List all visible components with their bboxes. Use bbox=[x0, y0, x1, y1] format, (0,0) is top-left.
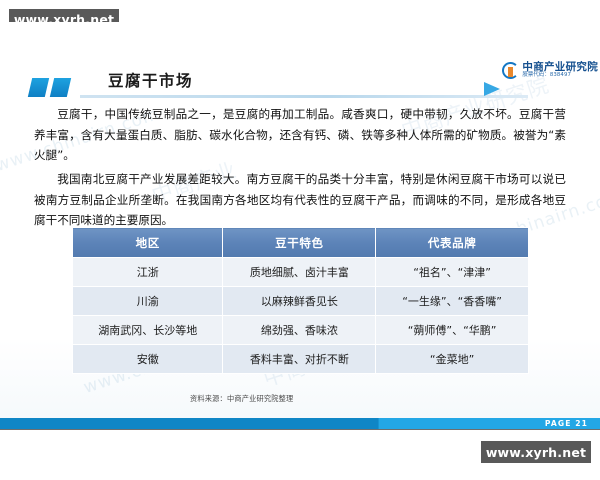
quote-mark-icon bbox=[28, 78, 74, 97]
table-row: 湖南武冈、长沙等地 绵劲强、香味浓 “蒴师傅”、“华鹏” bbox=[73, 316, 529, 345]
arrow-right-icon bbox=[484, 82, 500, 96]
body-paragraph-1: 豆腐干，中国传统豆制品之一，是豆腐的再加工制品。咸香爽口，硬中带韧，久放不坏。豆… bbox=[34, 104, 566, 166]
table-cell: 绵劲强、香味浓 bbox=[223, 316, 376, 345]
body-paragraph-2: 我国南北豆腐干产业发展差距较大。南方豆腐干的品类十分丰富，特别是休闲豆腐干市场可… bbox=[34, 169, 566, 231]
brand-logo: 中商产业研究院 股票代码：838497 bbox=[502, 62, 598, 79]
slide-page: www.chinairn.com 中商产业研究院 www.chinairn.co… bbox=[0, 22, 600, 430]
table-cell: “祖名”、“津津” bbox=[376, 258, 529, 287]
table-header-row: 地区 豆干特色 代表品牌 bbox=[73, 228, 529, 258]
logo-mark-icon bbox=[502, 62, 519, 79]
table-cell: “一生缘”、“香香嘴” bbox=[376, 287, 529, 316]
table-cell: “蒴师傅”、“华鹏” bbox=[376, 316, 529, 345]
footer-grey-bar bbox=[0, 429, 600, 430]
page-title: 豆腐干市场 bbox=[108, 69, 193, 91]
table-cell: 以麻辣鲜香见长 bbox=[223, 287, 376, 316]
table-header-cell: 代表品牌 bbox=[376, 228, 529, 258]
table-row: 江浙 质地细腻、卤汁丰富 “祖名”、“津津” bbox=[73, 258, 529, 287]
table-cell: 湖南武冈、长沙等地 bbox=[73, 316, 223, 345]
heading-rule bbox=[80, 95, 528, 98]
table-cell: “金菜地” bbox=[376, 345, 529, 374]
section-heading: 豆腐干市场 bbox=[28, 64, 572, 100]
table-header-cell: 豆干特色 bbox=[223, 228, 376, 258]
source-note: 资料来源：中商产业研究院整理 bbox=[190, 394, 293, 404]
table-cell: 川渝 bbox=[73, 287, 223, 316]
table-header-cell: 地区 bbox=[73, 228, 223, 258]
table-row: 川渝 以麻辣鲜香见长 “一生缘”、“香香嘴” bbox=[73, 287, 529, 316]
table-row: 安徽 香料丰富、对折不断 “金菜地” bbox=[73, 345, 529, 374]
page-number: PAGE 21 bbox=[545, 418, 588, 429]
table-cell: 安徽 bbox=[73, 345, 223, 374]
table-cell: 江浙 bbox=[73, 258, 223, 287]
table-cell: 香料丰富、对折不断 bbox=[223, 345, 376, 374]
bottom-watermark-url: www.xyrh.net bbox=[481, 441, 591, 463]
regional-tofu-table: 地区 豆干特色 代表品牌 江浙 质地细腻、卤汁丰富 “祖名”、“津津” 川渝 以… bbox=[72, 227, 529, 374]
logo-stock-code: 股票代码：838497 bbox=[522, 73, 598, 79]
data-table-wrapper: 地区 豆干特色 代表品牌 江浙 质地细腻、卤汁丰富 “祖名”、“津津” 川渝 以… bbox=[72, 227, 529, 374]
table-cell: 质地细腻、卤汁丰富 bbox=[223, 258, 376, 287]
footer-accent-bar bbox=[0, 418, 600, 429]
